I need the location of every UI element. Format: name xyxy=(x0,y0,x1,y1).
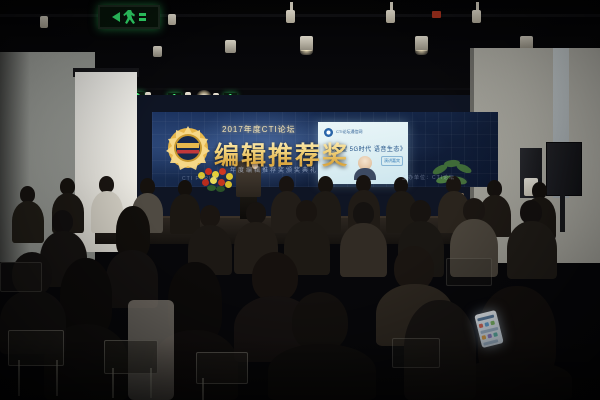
track-light-arm xyxy=(290,2,293,10)
audience-body xyxy=(268,344,376,400)
audience-head xyxy=(200,205,220,227)
chair-leg xyxy=(112,368,114,398)
pendant-light-icon xyxy=(415,36,428,51)
speaker-stand xyxy=(560,194,565,232)
ceiling-beam xyxy=(0,14,600,17)
track-light-arm xyxy=(476,2,479,10)
exit-bars-icon xyxy=(139,13,146,21)
pendant-light-icon xyxy=(300,36,313,51)
running-man-icon xyxy=(123,10,136,24)
folding-chair xyxy=(0,262,42,292)
audience-head xyxy=(246,202,266,224)
conference-photo: 2017年度CTI论坛 编辑推荐奖 年度编辑推荐奖颁奖典礼 主办单位：CTI论坛… xyxy=(0,0,600,400)
audience-head xyxy=(252,252,298,302)
chair-leg xyxy=(202,378,204,400)
loudspeaker-main xyxy=(546,142,582,196)
audience-head xyxy=(292,292,348,352)
banner-footer-right: 主办单位：CTI论坛 xyxy=(402,174,455,181)
banner-footer-line: 年度编辑推荐奖颁奖典礼 xyxy=(230,165,318,174)
banner-footer-left: CTI FORUM xyxy=(182,176,219,182)
track-light-icon xyxy=(40,16,48,28)
chair-leg xyxy=(150,368,152,398)
exit-arrow-left-icon xyxy=(112,12,120,22)
audience-body xyxy=(12,201,44,243)
folding-chair xyxy=(392,338,440,368)
audience-head xyxy=(410,200,431,223)
track-light-arm xyxy=(390,2,393,10)
pendant-light-icon xyxy=(225,40,236,53)
audience-head xyxy=(353,202,374,225)
screen-logo-label: CTI论坛通信网 xyxy=(336,129,362,135)
chair-leg xyxy=(18,360,20,396)
track-light-icon xyxy=(168,14,176,25)
screen-tag: 演讲嘉宾 xyxy=(381,156,403,166)
chair-leg xyxy=(56,360,58,396)
pendant-light-icon xyxy=(153,46,162,57)
red-clamp xyxy=(432,11,441,18)
track-light-icon xyxy=(472,10,481,23)
audience-body xyxy=(507,221,557,279)
audience-head xyxy=(52,210,73,233)
pendant-light-glow xyxy=(415,50,428,55)
award-seal-icon xyxy=(166,126,210,170)
track-light-icon xyxy=(386,10,395,23)
track-light-icon xyxy=(286,10,295,23)
audience-head xyxy=(296,200,317,223)
pendant-light-glow xyxy=(300,50,313,55)
folding-chair xyxy=(446,258,492,286)
audience-body xyxy=(340,223,387,277)
emergency-exit-sign xyxy=(98,5,160,29)
banner-subtitle: 2017年度CTI论坛 xyxy=(222,124,296,135)
audience-body xyxy=(170,194,200,234)
